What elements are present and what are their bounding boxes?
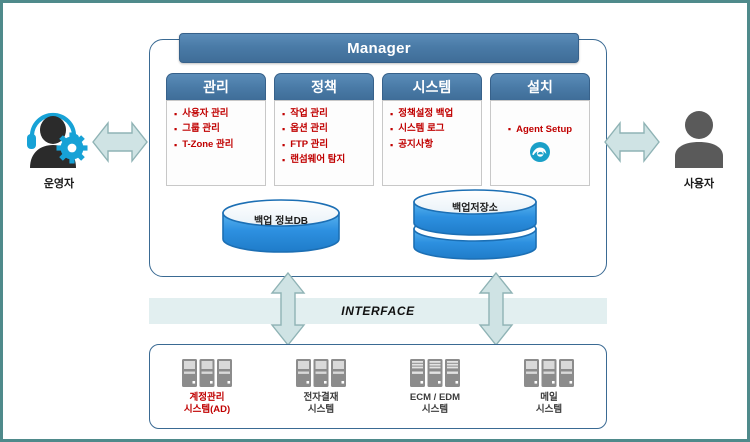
column-body-management: ▪ 사용자 관리 ▪ 그룹 관리 ▪ T-Zone 관리	[166, 100, 266, 186]
list-item-label: 정책설정 백업	[398, 109, 453, 120]
column-system: 시스템 ▪ 정책설정 백업 ▪ 시스템 로그 ▪ 공지사항	[382, 73, 482, 186]
column-install: 설치 ▪ Agent Setup	[490, 73, 590, 186]
list-item-label: 그룹 관리	[182, 124, 220, 135]
interface-label: INTERFACE	[341, 304, 414, 318]
list-item[interactable]: ▪ 그룹 관리	[174, 124, 261, 135]
bullet-dot-icon: ▪	[282, 109, 285, 120]
vertical-double-arrow-right-icon	[477, 271, 515, 347]
list-item-label: T-Zone 관리	[182, 140, 233, 151]
bullet-dot-icon: ▪	[174, 124, 177, 135]
bullet-dot-icon: ▪	[282, 155, 285, 166]
list-item[interactable]: ▪ 정책설정 백업	[390, 109, 477, 120]
user-person-icon	[668, 108, 730, 170]
operator-headset-gear-icon	[22, 108, 96, 170]
server-rack-icon	[409, 358, 461, 388]
actor-user: 사용자	[653, 108, 745, 191]
list-item[interactable]: ▪ 공지사항	[390, 140, 477, 151]
external-systems-panel: 계정관리 시스템(AD)	[149, 344, 607, 429]
system-item-account-management[interactable]: 계정관리 시스템(AD)	[155, 358, 259, 416]
system-item-label: 메일 시스템	[536, 392, 562, 416]
vertical-double-arrow-left-icon	[269, 271, 307, 347]
agent-setup-logo-icon	[529, 141, 551, 163]
list-item-label: 시스템 로그	[398, 124, 444, 135]
bullet-dot-icon: ▪	[390, 124, 393, 135]
database-backup-storage: 백업저장소	[411, 189, 539, 261]
column-body-policy: ▪ 작업 관리 ▪ 옵션 관리 ▪ FTP 관리 ▪ 랜섬웨어 탐지	[274, 100, 374, 186]
list-item[interactable]: ▪ 작업 관리	[282, 109, 369, 120]
interface-label-wrap: INTERFACE	[149, 298, 607, 324]
list-item-label: 랜섬웨어 탐지	[290, 155, 345, 166]
column-header-system[interactable]: 시스템	[382, 73, 482, 100]
column-header-label: 관리	[203, 77, 229, 97]
list-item[interactable]: ▪ T-Zone 관리	[174, 140, 261, 151]
bullet-dot-icon: ▪	[390, 109, 393, 120]
column-header-install[interactable]: 설치	[490, 73, 590, 100]
list-item[interactable]: ▪ 시스템 로그	[390, 124, 477, 135]
feature-columns: 관리 ▪ 사용자 관리 ▪ 그룹 관리 ▪ T-Zone 관리 정책	[166, 73, 590, 186]
bullet-dot-icon: ▪	[282, 140, 285, 151]
system-item-label: 전자결재 시스템	[304, 392, 339, 416]
database-backup-info-db: 백업 정보DB	[221, 199, 341, 253]
list-item-label: 공지사항	[398, 140, 433, 151]
system-item-approval[interactable]: 전자결재 시스템	[269, 358, 373, 416]
bullet-dot-icon: ▪	[282, 124, 285, 135]
list-item[interactable]: ▪ FTP 관리	[282, 140, 369, 151]
column-header-label: 정책	[311, 77, 337, 97]
list-item-label: FTP 관리	[290, 140, 328, 151]
column-body-install: ▪ Agent Setup	[490, 100, 590, 186]
column-body-system: ▪ 정책설정 백업 ▪ 시스템 로그 ▪ 공지사항	[382, 100, 482, 186]
diagram-canvas: Manager 관리 ▪ 사용자 관리 ▪ 그룹 관리 ▪ T-Zone 관리	[0, 0, 750, 442]
actor-operator-label: 운영자	[44, 175, 74, 191]
list-item-label: Agent Setup	[516, 124, 572, 135]
column-header-management[interactable]: 관리	[166, 73, 266, 100]
list-item[interactable]: ▪ 랜섬웨어 탐지	[282, 155, 369, 166]
system-item-ecm-edm[interactable]: ECM / EDM 시스템	[383, 358, 487, 416]
server-rack-icon	[181, 358, 233, 388]
bullet-dot-icon: ▪	[174, 140, 177, 151]
list-item[interactable]: ▪ 옵션 관리	[282, 124, 369, 135]
list-item-label: 작업 관리	[290, 109, 328, 120]
system-item-label: ECM / EDM 시스템	[410, 392, 460, 416]
column-management: 관리 ▪ 사용자 관리 ▪ 그룹 관리 ▪ T-Zone 관리	[166, 73, 266, 186]
list-item-label: 옵션 관리	[290, 124, 328, 135]
actor-operator: 운영자	[13, 108, 105, 191]
system-item-label: 계정관리 시스템(AD)	[184, 392, 230, 416]
bullet-dot-icon: ▪	[390, 140, 393, 151]
system-item-mail[interactable]: 메일 시스템	[497, 358, 601, 416]
column-header-label: 시스템	[413, 77, 452, 97]
list-item-label: 사용자 관리	[182, 109, 228, 120]
actor-user-label: 사용자	[684, 175, 714, 191]
server-rack-icon	[523, 358, 575, 388]
manager-title-label: Manager	[347, 40, 411, 57]
list-item[interactable]: ▪ 사용자 관리	[174, 109, 261, 120]
column-header-policy[interactable]: 정책	[274, 73, 374, 100]
list-item[interactable]: ▪ Agent Setup	[508, 124, 572, 135]
column-header-label: 설치	[527, 77, 553, 97]
manager-title-bar: Manager	[179, 33, 579, 63]
server-rack-icon	[295, 358, 347, 388]
bullet-dot-icon: ▪	[508, 124, 511, 134]
bullet-dot-icon: ▪	[174, 109, 177, 120]
column-policy: 정책 ▪ 작업 관리 ▪ 옵션 관리 ▪ FTP 관리 ▪ 랜섬웨어 탐지	[274, 73, 374, 186]
